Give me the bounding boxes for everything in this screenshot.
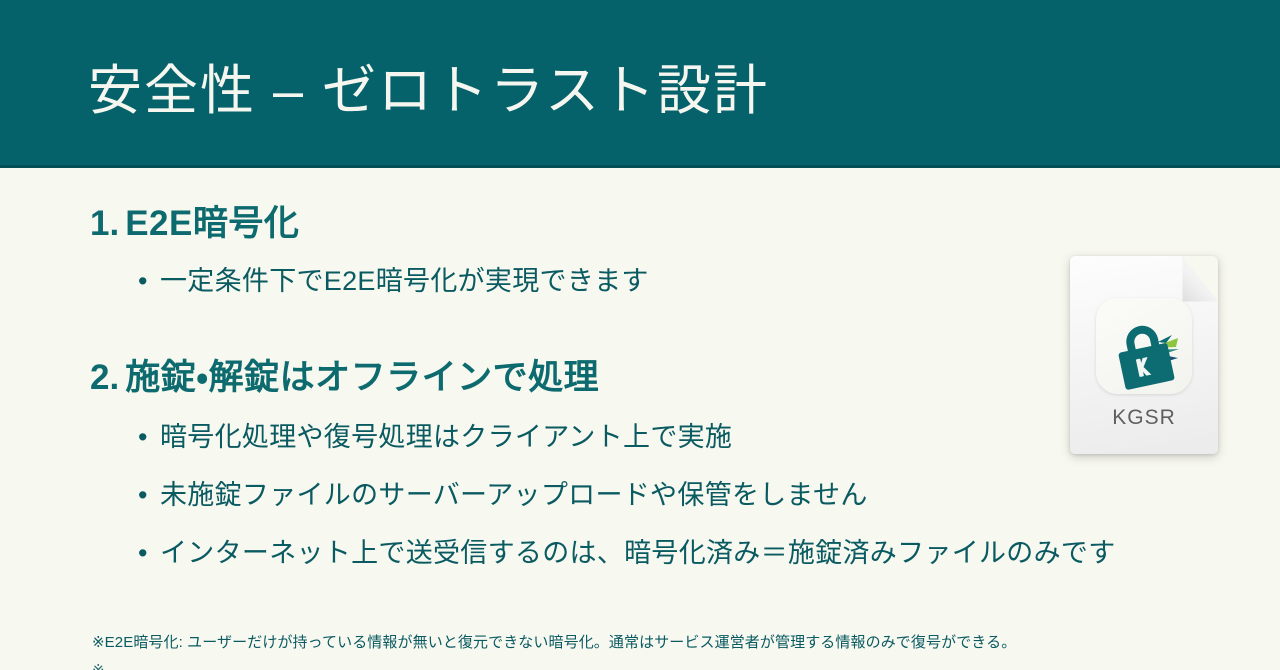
app-tile bbox=[1096, 298, 1192, 394]
section-1-heading: 1. E2E暗号化 bbox=[0, 204, 1060, 243]
section-2-bullet-list: • 暗号化処理や復号処理はクライアント上で実施 • 未施錠ファイルのサーバーアッ… bbox=[0, 421, 1060, 570]
padlock-body bbox=[1118, 343, 1175, 391]
bullet-dot-icon: • bbox=[138, 265, 160, 299]
bullet-dot-icon: • bbox=[138, 479, 160, 513]
list-item: • インターネット上で送受信するのは、暗号化済み＝施錠済みファイルのみです bbox=[0, 537, 1060, 571]
section-1-bullet-list: • 一定条件下でE2E暗号化が実現できます bbox=[0, 265, 1060, 299]
section-1: 1. E2E暗号化 • 一定条件下でE2E暗号化が実現できます bbox=[0, 204, 1060, 299]
bullet-dot-icon: • bbox=[138, 537, 160, 571]
section-1-number: 1. bbox=[90, 204, 119, 243]
bullet-text: 未施錠ファイルのサーバーアップロードや保管をしません bbox=[160, 479, 868, 513]
padlock-icon bbox=[1096, 298, 1192, 394]
file-label: KGSR bbox=[1070, 406, 1218, 430]
section-2-heading: 2. 施錠・解錠はオフラインで処理 bbox=[0, 358, 1060, 397]
bullet-text: インターネット上で送受信するのは、暗号化済み＝施錠済みファイルのみです bbox=[160, 537, 1116, 571]
bullet-text: 一定条件下でE2E暗号化が実現できます bbox=[160, 265, 649, 299]
section-2: 2. 施錠・解錠はオフラインで処理 • 暗号化処理や復号処理はクライアント上で実… bbox=[0, 358, 1060, 570]
section-1-heading-text: E2E暗号化 bbox=[125, 204, 299, 243]
list-item: • 未施錠ファイルのサーバーアップロードや保管をしません bbox=[0, 479, 1060, 513]
section-2-number: 2. bbox=[90, 358, 119, 397]
slide: 安全性 – ゼロトラスト設計 1. E2E暗号化 • 一定条件下でE2E暗号化が… bbox=[0, 0, 1280, 670]
bullet-text: 暗号化処理や復号処理はクライアント上で実施 bbox=[160, 421, 732, 455]
page-title: 安全性 – ゼロトラスト設計 bbox=[88, 62, 769, 121]
bullet-dot-icon: • bbox=[138, 421, 160, 455]
kgsr-file-icon: KGSR bbox=[1070, 256, 1218, 454]
footnote: ※E2E暗号化: ユーザーだけが持っている情報が無いと復元できない暗号化。通常は… bbox=[92, 632, 1016, 654]
section-2-heading-text: 施錠・解錠はオフラインで処理 bbox=[125, 358, 599, 397]
list-item: • 暗号化処理や復号処理はクライアント上で実施 bbox=[0, 421, 1060, 455]
footnote-cut-glyph: ※ bbox=[92, 660, 110, 670]
list-item: • 一定条件下でE2E暗号化が実現できます bbox=[0, 265, 1060, 299]
slide-header: 安全性 – ゼロトラスト設計 bbox=[0, 0, 1280, 168]
